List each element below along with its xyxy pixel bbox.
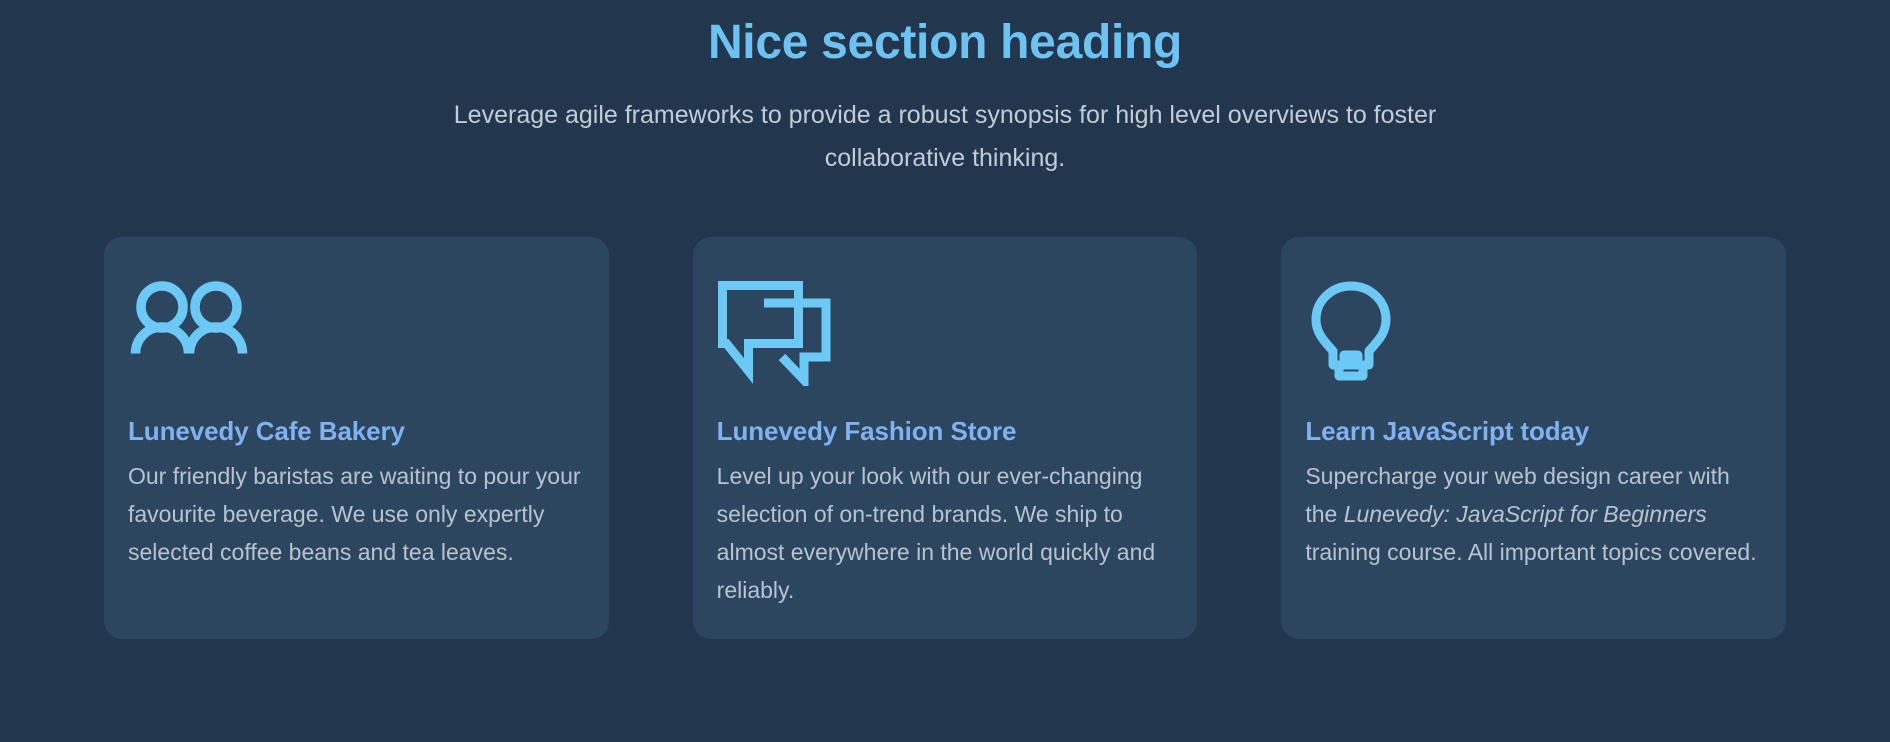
card-title: Learn JavaScript today [1305, 415, 1762, 449]
card-icon-wrapper [1305, 281, 1762, 391]
card-icon-wrapper [128, 281, 585, 391]
card-description-book-title: Lunevedy: JavaScript for Beginners [1344, 501, 1707, 527]
feature-section: Nice section heading Leverage agile fram… [0, 0, 1890, 742]
feature-card-fashion-store[interactable]: Lunevedy Fashion Store Level up your loo… [693, 237, 1198, 640]
card-title: Lunevedy Cafe Bakery [128, 415, 585, 449]
card-icon-wrapper [717, 281, 1174, 391]
card-description-part-2: training course. All important topics co… [1305, 539, 1756, 565]
section-header: Nice section heading Leverage agile fram… [0, 0, 1890, 180]
feature-cards-row: Lunevedy Cafe Bakery Our friendly barist… [0, 237, 1890, 640]
card-title: Lunevedy Fashion Store [717, 415, 1174, 449]
section-subtitle: Leverage agile frameworks to provide a r… [445, 94, 1445, 180]
card-description: Supercharge your web design career with … [1305, 458, 1762, 571]
lightbulb-icon [1311, 281, 1391, 386]
chat-bubbles-icon [718, 281, 834, 386]
card-description: Level up your look with our ever-changin… [717, 458, 1174, 609]
people-icon [130, 281, 248, 355]
feature-card-learn-javascript[interactable]: Learn JavaScript today Supercharge your … [1281, 237, 1786, 640]
feature-card-cafe-bakery[interactable]: Lunevedy Cafe Bakery Our friendly barist… [104, 237, 609, 640]
card-description: Our friendly baristas are waiting to pou… [128, 458, 585, 571]
page-title: Nice section heading [0, 14, 1890, 72]
